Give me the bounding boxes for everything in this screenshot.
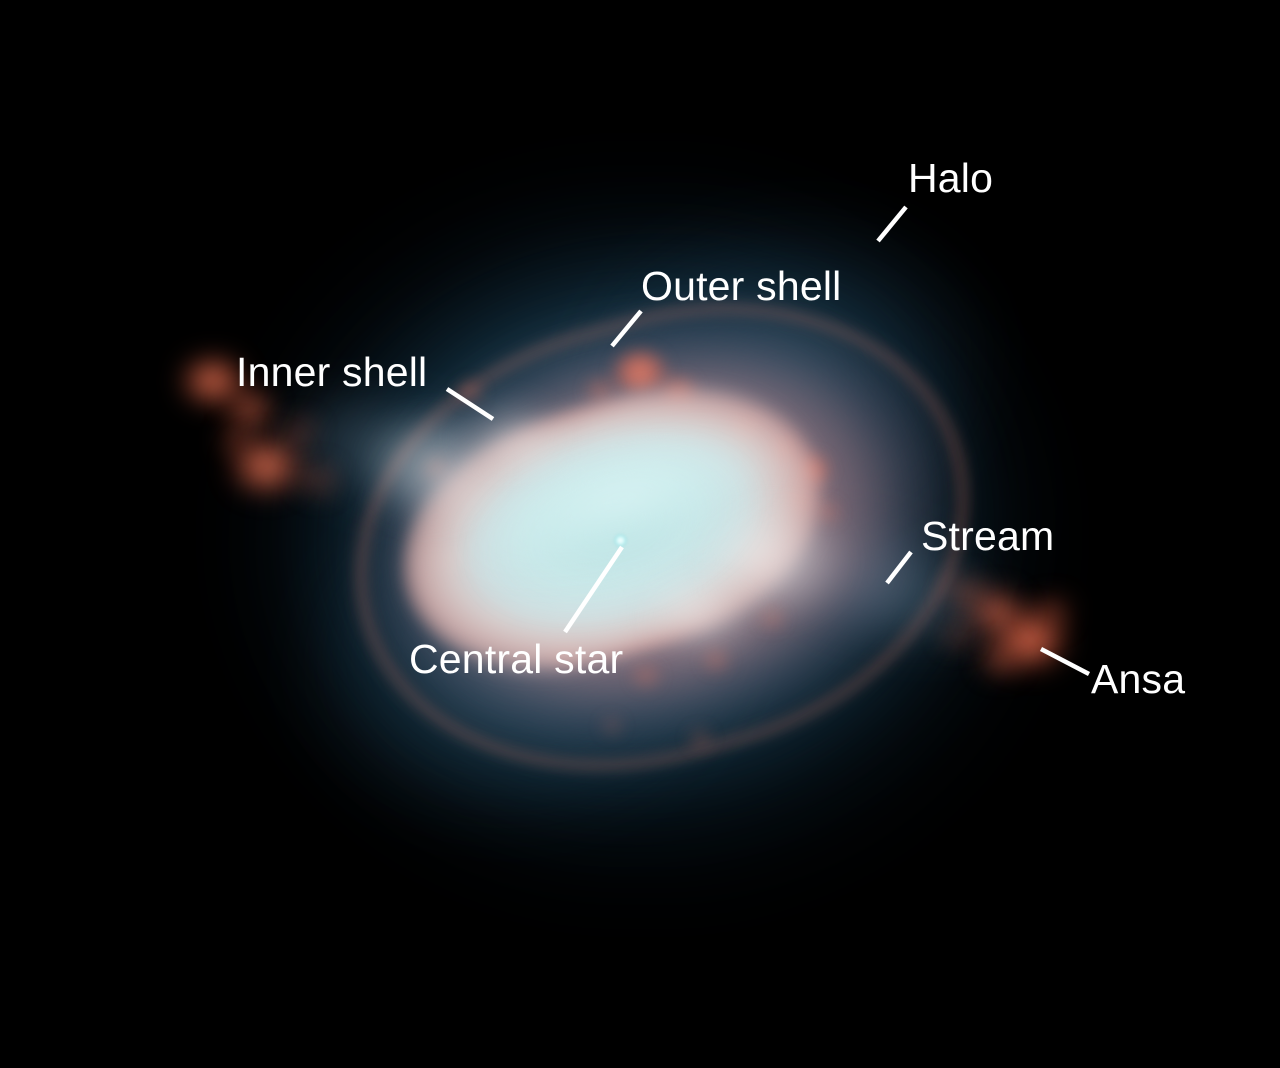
leader-line-halo (878, 207, 906, 241)
leader-line-inner-shell (447, 389, 493, 419)
label-stream: Stream (921, 516, 1054, 557)
leader-lines (0, 0, 1280, 1068)
label-inner-shell: Inner shell (236, 352, 427, 393)
label-ansa: Ansa (1091, 659, 1185, 700)
annotation-overlay: Halo Outer shell Inner shell Stream Ansa… (0, 0, 1280, 1068)
leader-line-stream (887, 552, 911, 583)
label-outer-shell: Outer shell (641, 266, 841, 307)
leader-line-outer-shell (612, 311, 641, 346)
leader-line-ansa (1041, 649, 1089, 674)
nebula-image: Halo Outer shell Inner shell Stream Ansa… (0, 0, 1280, 1068)
leader-line-central-star (565, 547, 622, 632)
label-halo: Halo (908, 158, 993, 199)
label-central-star: Central star (409, 639, 623, 680)
